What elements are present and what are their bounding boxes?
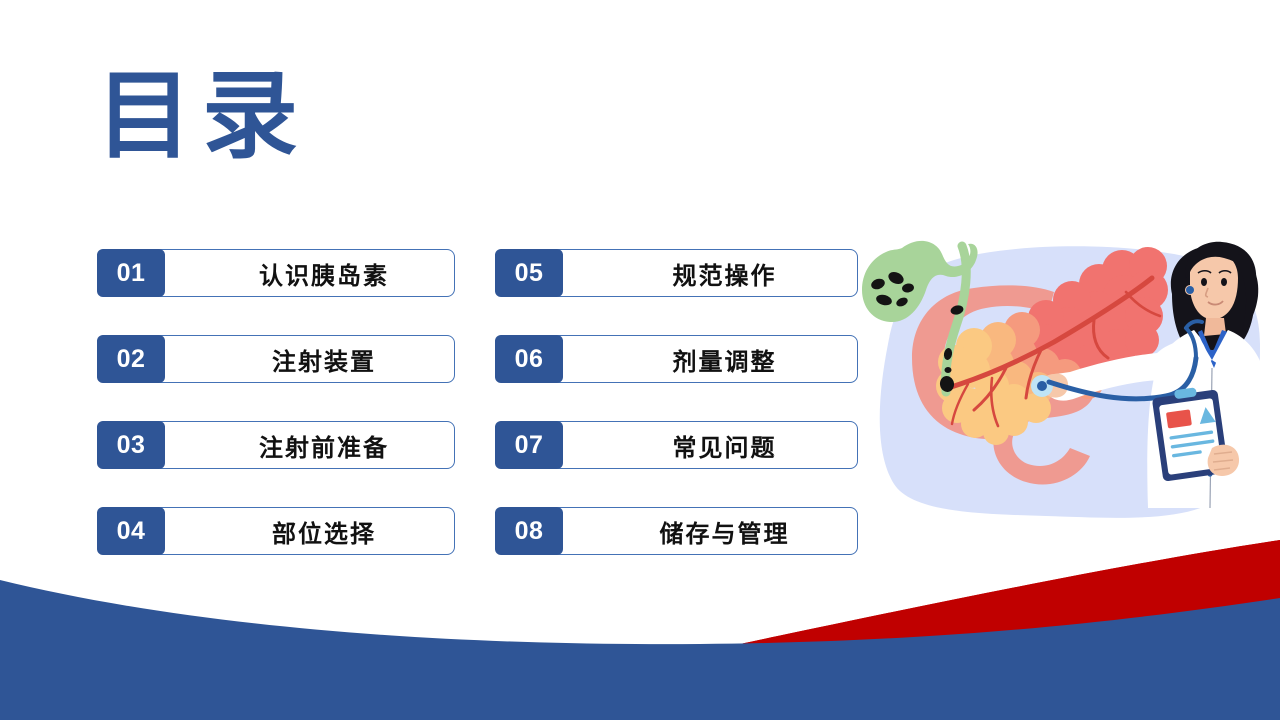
toc-number-badge: 07	[495, 421, 563, 469]
toc-label-panel: 认识胰岛素	[153, 249, 455, 297]
toc-number-badge: 03	[97, 421, 165, 469]
toc-label-panel: 储存与管理	[551, 507, 858, 555]
toc-item-label: 规范操作	[633, 256, 777, 291]
toc-item-label: 剂量调整	[633, 342, 777, 377]
toc-number-badge: 04	[97, 507, 165, 555]
toc-item-label: 常见问题	[633, 428, 777, 463]
toc-number-badge: 06	[495, 335, 563, 383]
slide-root: 目录 01 认识胰岛素 02 注射装置 03 注射前准备 04 部位选择	[0, 0, 1280, 720]
toc-label-panel: 部位选择	[153, 507, 455, 555]
toc-label-panel: 剂量调整	[551, 335, 858, 383]
page-title: 目录	[96, 62, 308, 172]
toc-label-panel: 规范操作	[551, 249, 858, 297]
toc-number-badge: 08	[495, 507, 563, 555]
toc-label-panel: 注射前准备	[153, 421, 455, 469]
toc-item-label: 认识胰岛素	[219, 256, 389, 291]
toc-label-panel: 常见问题	[551, 421, 858, 469]
toc-label-panel: 注射装置	[153, 335, 455, 383]
toc-item-label: 注射前准备	[219, 428, 389, 463]
toc-number-badge: 02	[97, 335, 165, 383]
toc-item-label: 注射装置	[232, 342, 376, 377]
toc-item-label: 部位选择	[232, 514, 376, 549]
toc-number-badge: 01	[97, 249, 165, 297]
toc-item-label: 储存与管理	[620, 514, 790, 549]
doctor-pancreas-illustration	[856, 226, 1280, 526]
bottom-wave-decoration	[0, 540, 1280, 720]
toc-number-badge: 05	[495, 249, 563, 297]
